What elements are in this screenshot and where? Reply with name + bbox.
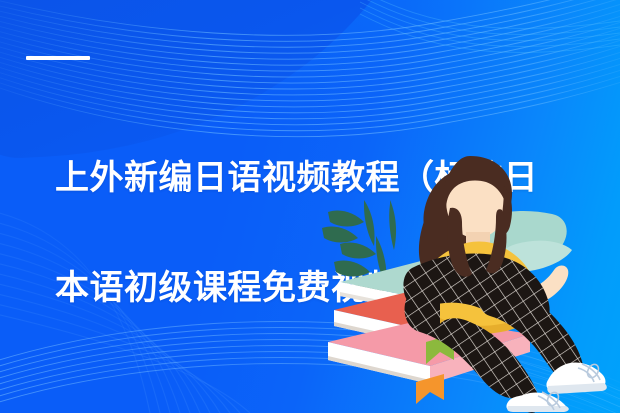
illustration-woman-on-books: [320, 140, 620, 413]
course-banner: 上外新编日语视频教程（标准日 本语初级课程免费视频: [0, 0, 620, 413]
accent-rule: [26, 56, 90, 60]
